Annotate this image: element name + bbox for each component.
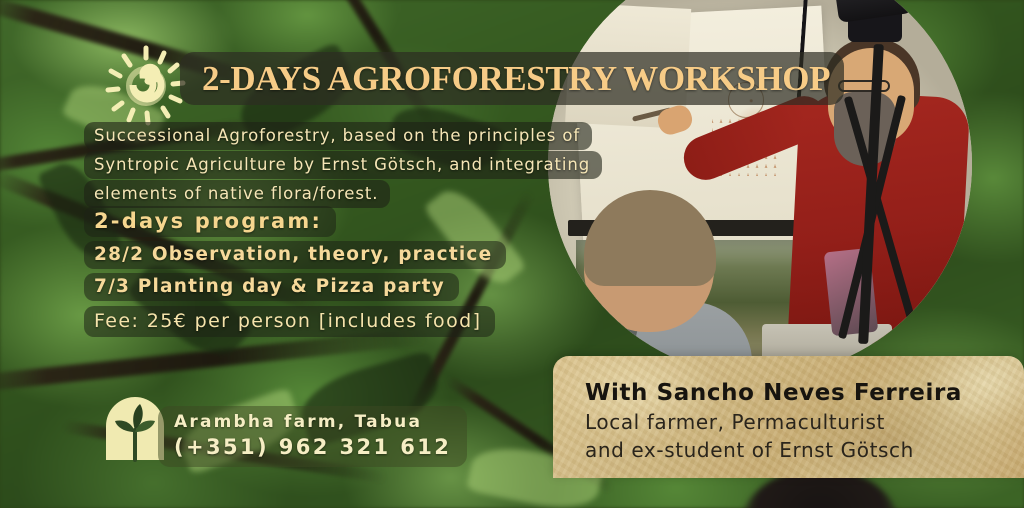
program-block: 2-days program: 28/2 Observation, theory… [84, 206, 506, 305]
presenter-name: With Sancho Neves Ferreira [585, 378, 1024, 408]
program-day-2: 7/3 Planting day & Pizza party [84, 273, 459, 301]
program-heading: 2-days program: [84, 206, 336, 237]
description-line: elements of native flora/forest. [84, 180, 390, 208]
fee-text: Fee: 25€ per person [includes food] [84, 306, 495, 337]
poster-title-bar: 2-DAYS AGROFORESTRY WORKSHOP [180, 52, 844, 105]
description-line: Syntropic Agriculture by Ernst Götsch, a… [84, 151, 602, 179]
photo-presenter-glasses [838, 80, 890, 92]
contact-phone[interactable]: (+351) 962 321 612 [174, 434, 451, 461]
presenter-role: Local farmer, Permaculturist [585, 408, 1024, 436]
description-line: Successional Agroforestry, based on the … [84, 122, 592, 150]
presenter-credential: and ex-student of Ernst Götsch [585, 436, 1024, 464]
contact-location: Arambha farm, Tabua [174, 410, 451, 434]
presenter-panel: With Sancho Neves Ferreira Local farmer,… [553, 356, 1024, 478]
page-title: 2-DAYS AGROFORESTRY WORKSHOP [202, 59, 830, 99]
description-block: Successional Agroforestry, based on the … [84, 122, 602, 209]
program-day-1: 28/2 Observation, theory, practice [84, 241, 506, 269]
poster-canvas: 2-DAYS AGROFORESTRY WORKSHOP Successiona… [0, 0, 1024, 508]
contact-block[interactable]: Arambha farm, Tabua (+351) 962 321 612 [158, 406, 467, 467]
